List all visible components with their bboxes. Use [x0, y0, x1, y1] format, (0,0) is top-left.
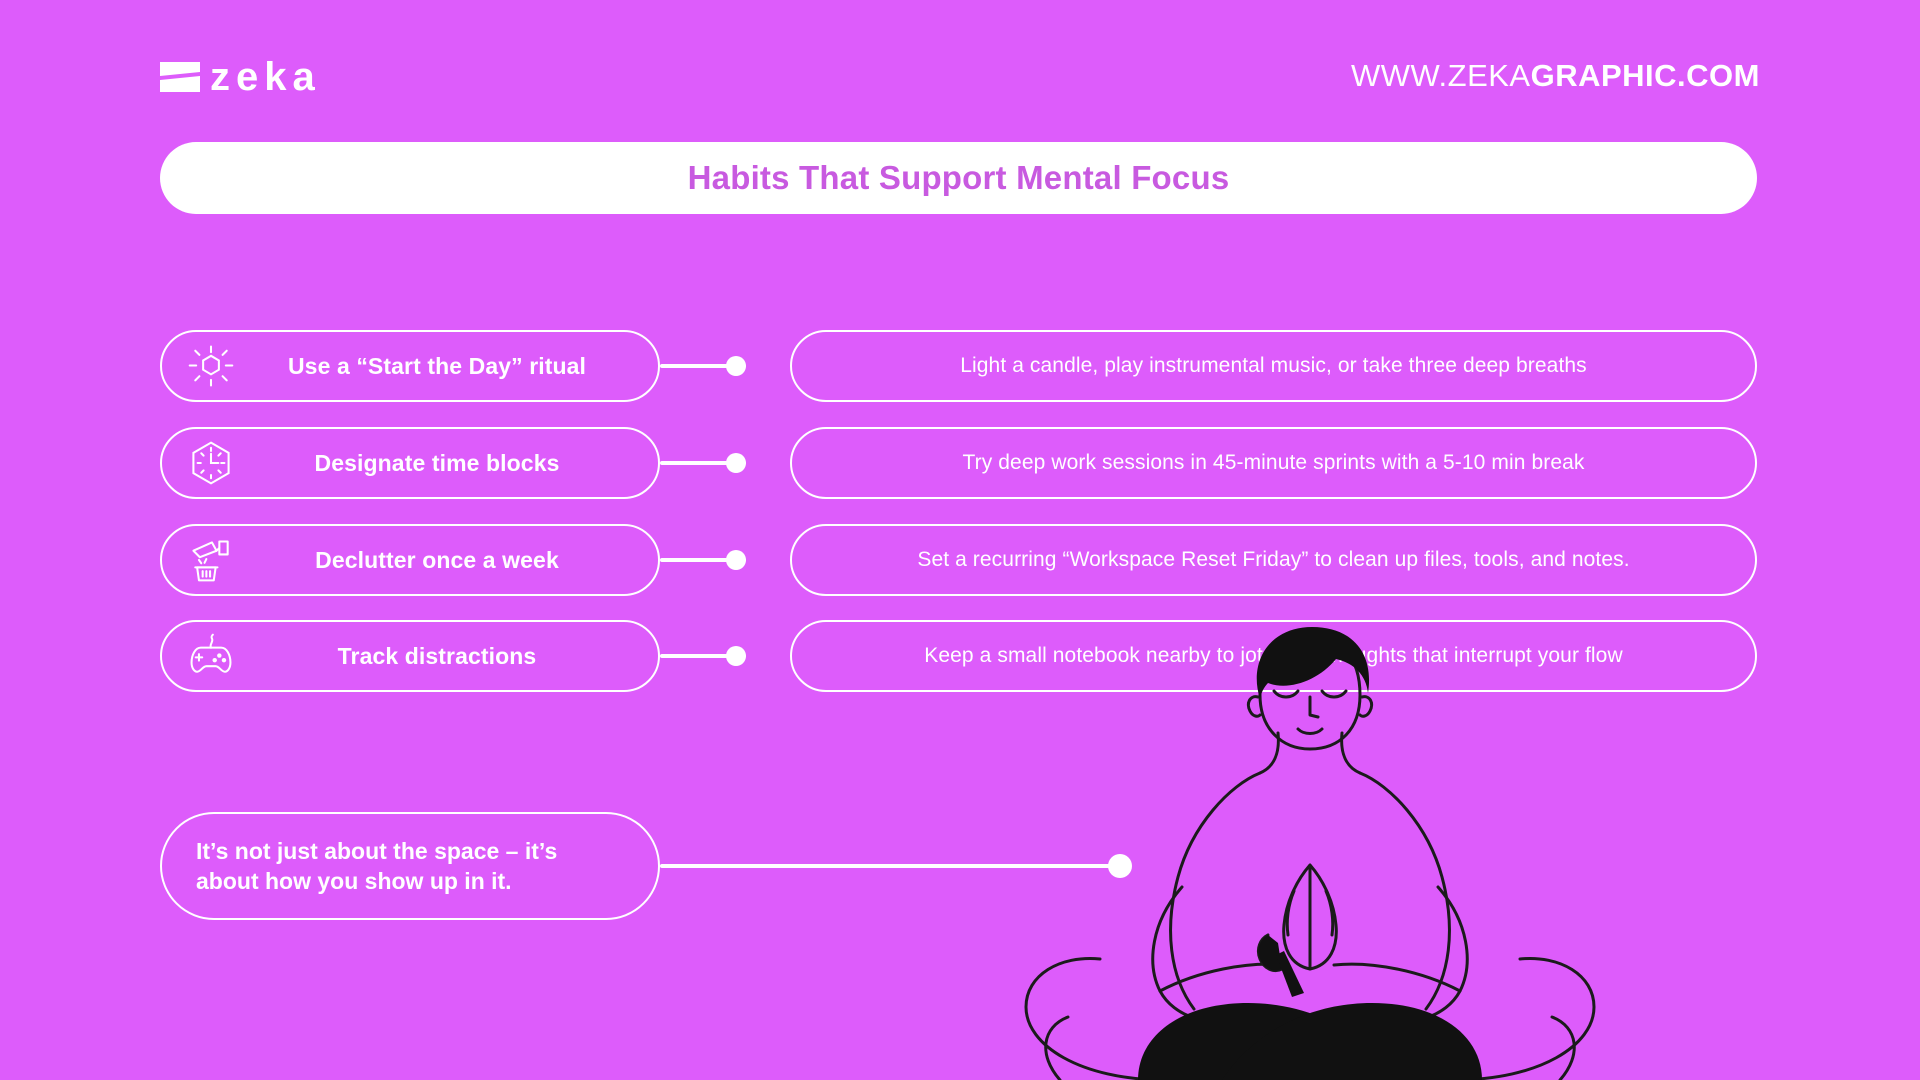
connector-dot: [726, 550, 746, 570]
habit-row: Track distractions Keep a small notebook…: [0, 620, 1920, 692]
habit-detail-card-2[interactable]: Try deep work sessions in 45-minute spri…: [790, 427, 1757, 499]
connector-dot: [726, 646, 746, 666]
habit-label: Use a “Start the Day” ritual: [242, 353, 658, 380]
connector-dot: [726, 453, 746, 473]
meditating-person-lotus-pose-illustration: [930, 625, 1690, 1080]
game-controller-icon: [180, 631, 242, 681]
site-url: WWW.ZEKAGRAPHIC.COM: [1351, 58, 1760, 94]
title-banner: Habits That Support Mental Focus: [160, 142, 1757, 214]
logo-wordmark: zeka: [210, 57, 321, 97]
habit-label: Declutter once a week: [242, 547, 658, 574]
habit-description: Set a recurring “Workspace Reset Friday”…: [917, 548, 1629, 572]
hand-trash-icon: [180, 535, 242, 585]
habit-label: Track distractions: [242, 643, 658, 670]
habit-detail-card-1[interactable]: Light a candle, play instrumental music,…: [790, 330, 1757, 402]
habit-row: Designate time blocks Try deep work sess…: [0, 427, 1920, 499]
habit-card-2[interactable]: Designate time blocks: [160, 427, 660, 499]
quote-card[interactable]: It’s not just about the space – it’s abo…: [160, 812, 660, 920]
connector-dot: [726, 356, 746, 376]
sun-hexagon-icon: [180, 341, 242, 391]
habit-detail-card-3[interactable]: Set a recurring “Workspace Reset Friday”…: [790, 524, 1757, 596]
clock-hexagon-icon: [180, 438, 242, 488]
quote-line-2: about how you show up in it.: [196, 866, 557, 896]
habit-description: Try deep work sessions in 45-minute spri…: [963, 451, 1585, 475]
habit-row: Declutter once a week Set a recurring “W…: [0, 524, 1920, 596]
habit-card-1[interactable]: Use a “Start the Day” ritual: [160, 330, 660, 402]
quote-connector-line: [660, 864, 1128, 868]
quote-text: It’s not just about the space – it’s abo…: [162, 836, 591, 897]
habit-card-3[interactable]: Declutter once a week: [160, 524, 660, 596]
habit-description: Light a candle, play instrumental music,…: [960, 354, 1587, 378]
quote-connector-dot: [1108, 854, 1132, 878]
site-url-light: WWW.ZEKA: [1351, 58, 1531, 93]
site-url-bold: GRAPHIC.COM: [1531, 58, 1760, 93]
zeka-bars-logo-icon: [160, 62, 200, 92]
quote-line-1: It’s not just about the space – it’s: [196, 836, 557, 866]
infographic-canvas: zeka WWW.ZEKAGRAPHIC.COM Habits That Sup…: [0, 0, 1920, 1080]
habit-card-4[interactable]: Track distractions: [160, 620, 660, 692]
habit-label: Designate time blocks: [242, 450, 658, 477]
brand-logo: zeka: [160, 55, 321, 99]
habit-row: Use a “Start the Day” ritual Light a can…: [0, 330, 1920, 402]
page-title: Habits That Support Mental Focus: [688, 159, 1230, 197]
habit-detail-card-4[interactable]: Keep a small notebook nearby to jot down…: [790, 620, 1757, 692]
habit-description: Keep a small notebook nearby to jot down…: [924, 644, 1622, 668]
